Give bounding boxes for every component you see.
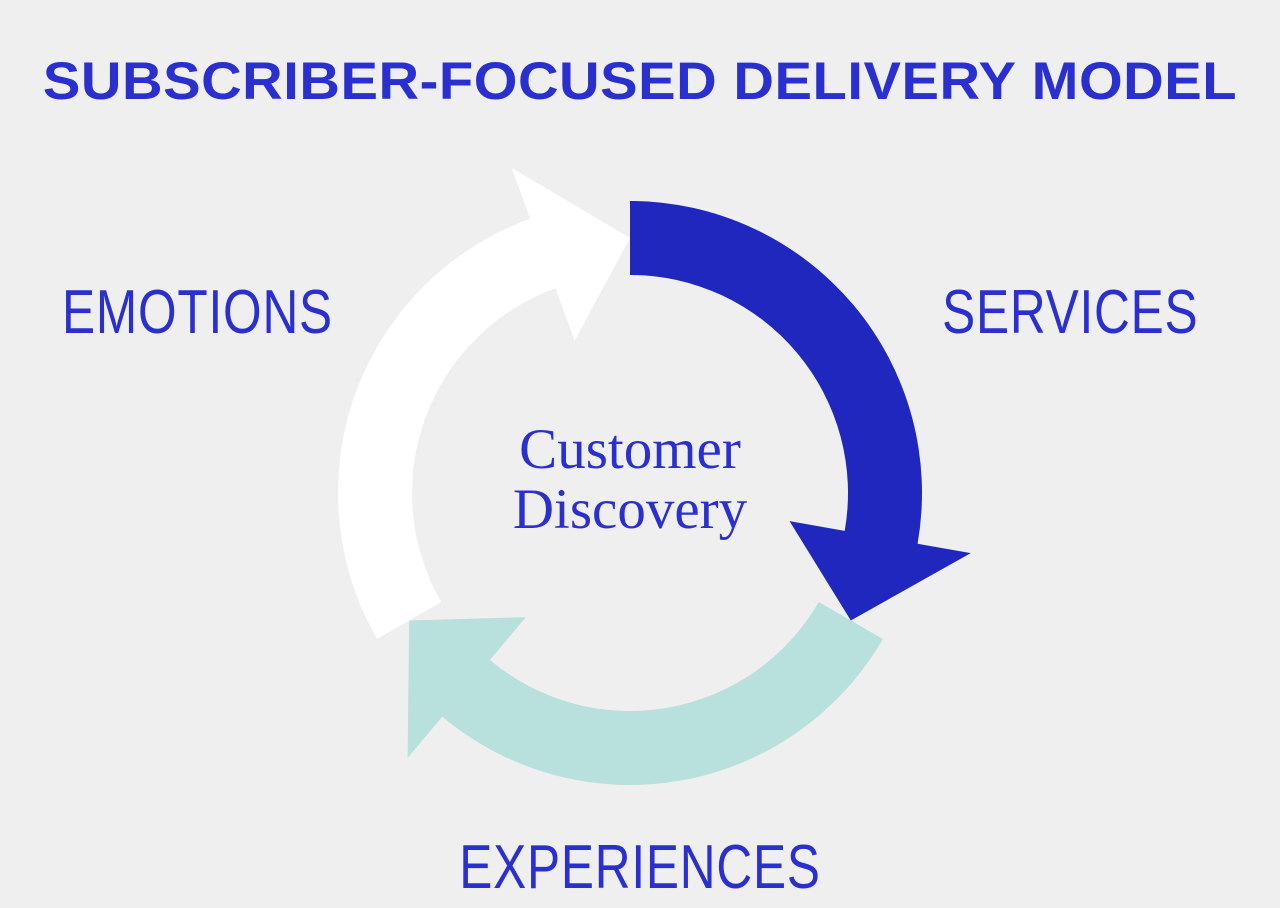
center-label-line-2: Discovery <box>430 480 830 540</box>
stage-label-experiences: EXPERIENCES <box>128 835 1152 901</box>
experiences-arrow-icon[interactable] <box>408 602 883 785</box>
stage-label-emotions: EMOTIONS <box>62 280 333 346</box>
center-label-line-1: Customer <box>430 420 830 480</box>
services-arrow-icon[interactable] <box>630 201 971 621</box>
slide-canvas: SUBSCRIBER-FOCUSED DELIVERY MODEL Custom… <box>0 0 1280 908</box>
stage-label-services: SERVICES <box>942 280 1198 346</box>
center-label: Customer Discovery <box>430 420 830 540</box>
cycle-diagram: Customer Discovery EMOTIONS SERVICES EXP… <box>0 0 1280 908</box>
emotions-arrow-icon[interactable] <box>338 168 630 639</box>
